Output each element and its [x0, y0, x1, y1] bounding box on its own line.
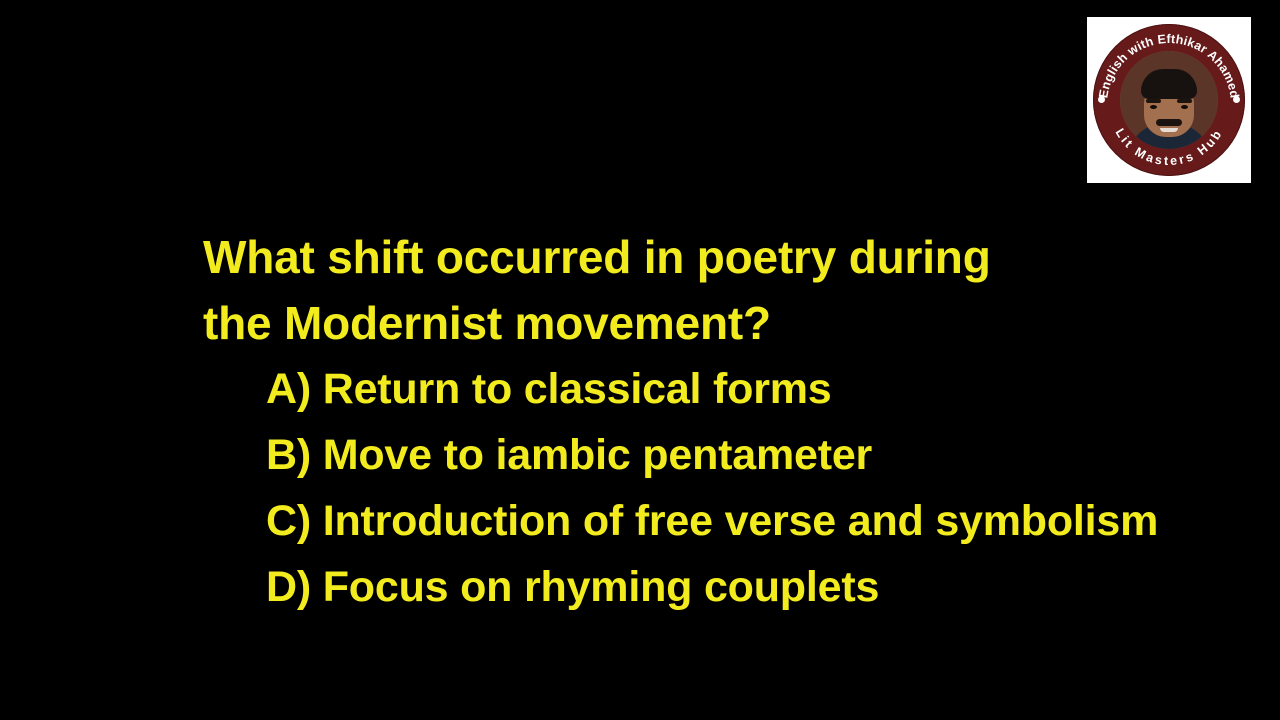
- question-line-2: the Modernist movement?: [203, 290, 1280, 356]
- logo-portrait-photo: [1120, 51, 1218, 149]
- question-line-1: What shift occurred in poetry during: [203, 224, 1280, 290]
- portrait-mustache: [1156, 119, 1182, 126]
- quiz-slide: What shift occurred in poetry during the…: [0, 0, 1280, 720]
- options-block: A) Return to classical forms B) Move to …: [266, 356, 1280, 620]
- question-block: What shift occurred in poetry during the…: [203, 224, 1280, 356]
- option-a[interactable]: A) Return to classical forms: [266, 356, 1280, 422]
- option-c[interactable]: C) Introduction of free verse and symbol…: [266, 488, 1280, 554]
- option-b[interactable]: B) Move to iambic pentameter: [266, 422, 1280, 488]
- portrait-mouth: [1160, 128, 1178, 132]
- portrait-eyebrow-left: [1146, 99, 1161, 103]
- portrait-eye-left: [1150, 105, 1157, 109]
- option-d[interactable]: D) Focus on rhyming couplets: [266, 554, 1280, 620]
- portrait-eye-right: [1181, 105, 1188, 109]
- logo-dot-right-icon: [1233, 96, 1240, 103]
- channel-logo-watermark: English with Efthikar Ahamed Lit Masters…: [1087, 17, 1251, 183]
- portrait-hair: [1141, 69, 1197, 99]
- portrait-eyebrow-right: [1177, 99, 1192, 103]
- logo-dot-left-icon: [1098, 96, 1105, 103]
